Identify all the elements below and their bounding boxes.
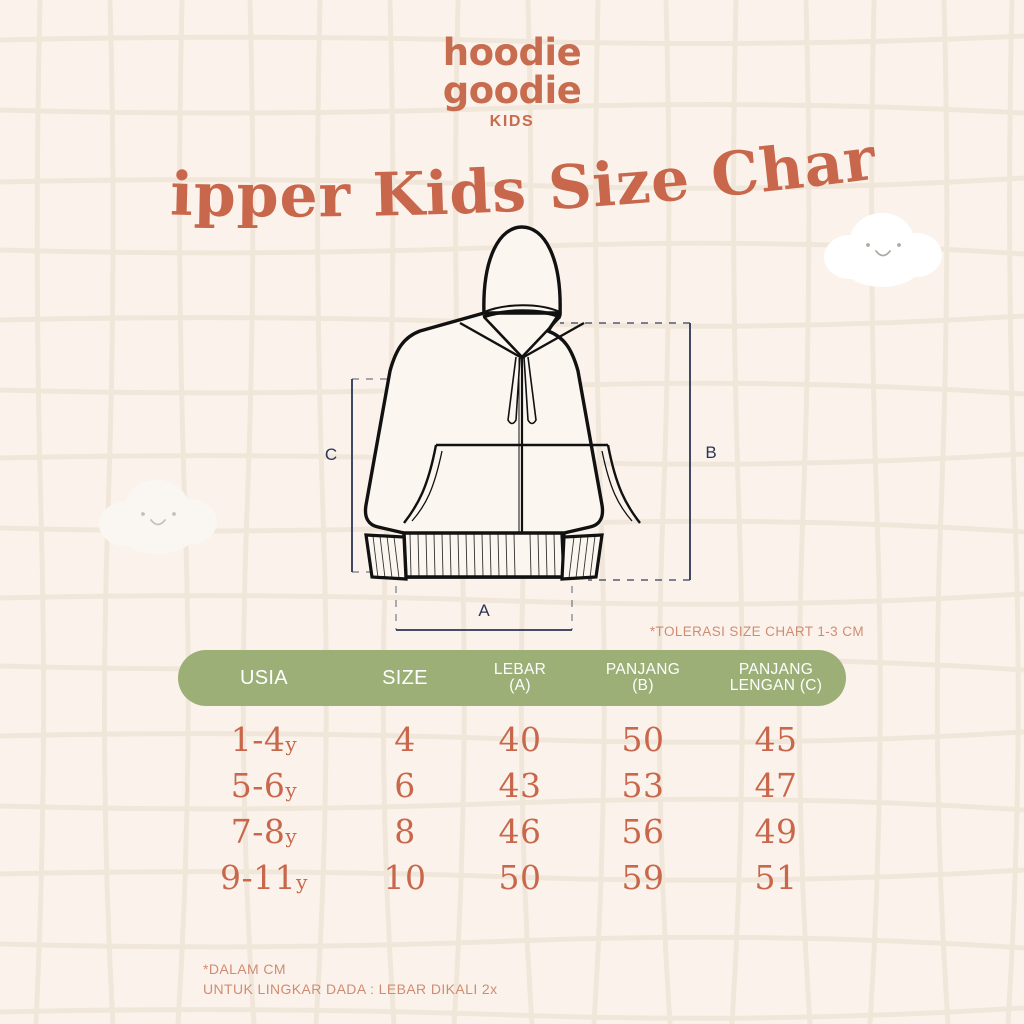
- cell-panjang: 50: [580, 720, 706, 759]
- cell-lebar: 43: [460, 766, 580, 805]
- cell-usia: 7-8y: [178, 812, 350, 851]
- cell-size: 10: [350, 858, 460, 897]
- footnote: *DALAM CM UNTUK LINGKAR DADA : LEBAR DIK…: [203, 960, 497, 1000]
- size-chart-table: USIA SIZE LEBAR (A) PANJANG (B) PANJANG …: [178, 650, 846, 904]
- hoodie-outline: [366, 227, 603, 577]
- cell-panjang-lengan: 51: [706, 858, 846, 897]
- cell-panjang: 59: [580, 858, 706, 897]
- cell-size: 6: [350, 766, 460, 805]
- column-header-panjang-lengan: PANJANG LENGAN (C): [706, 662, 846, 694]
- brand-line-goodie: goodie: [0, 72, 1024, 110]
- hem-ribbing: [404, 533, 564, 577]
- cell-lebar: 50: [460, 858, 580, 897]
- column-header-usia: USIA: [178, 668, 350, 689]
- page-title-text: Zipper Kids Size Chart: [0, 118, 881, 228]
- cell-usia: 5-6y: [178, 766, 350, 805]
- column-header-size: SIZE: [350, 668, 460, 689]
- cell-panjang: 56: [580, 812, 706, 851]
- zip-hoodie-illustration: C B A: [300, 205, 740, 635]
- cuff-ribbing-right: [562, 535, 602, 579]
- table-header-row: USIA SIZE LEBAR (A) PANJANG (B) PANJANG …: [178, 650, 846, 706]
- dimension-label-b: B: [705, 443, 716, 462]
- cell-panjang-lengan: 49: [706, 812, 846, 851]
- footnote-line-1: *DALAM CM: [203, 960, 497, 980]
- cell-panjang-lengan: 45: [706, 720, 846, 759]
- column-header-lebar: LEBAR (A): [460, 662, 580, 694]
- table-row: 5-6y6435347: [178, 766, 846, 812]
- brand-line-hoodie: hoodie: [0, 34, 1024, 72]
- cell-lebar: 40: [460, 720, 580, 759]
- brand-logo: hoodie goodie KIDS: [0, 34, 1024, 131]
- page-title: Zipper Kids Size Chart: [0, 118, 1024, 228]
- tolerance-note: *TOLERASI SIZE CHART 1-3 CM: [650, 624, 864, 639]
- cell-size: 8: [350, 812, 460, 851]
- cell-panjang: 53: [580, 766, 706, 805]
- cuff-ribbing-left: [366, 535, 406, 579]
- cell-panjang-lengan: 47: [706, 766, 846, 805]
- cell-size: 4: [350, 720, 460, 759]
- dimension-label-c: C: [325, 445, 337, 464]
- table-row: 1-4y4405045: [178, 720, 846, 766]
- cell-usia: 9-11y: [178, 858, 350, 897]
- table-row: 9-11y10505951: [178, 858, 846, 904]
- dimension-label-a: A: [478, 601, 490, 620]
- footnote-line-2: UNTUK LINGKAR DADA : LEBAR DIKALI 2x: [203, 980, 497, 1000]
- column-header-panjang: PANJANG (B): [580, 662, 706, 694]
- table-body: 1-4y44050455-6y64353477-8y84656499-11y10…: [178, 720, 846, 904]
- table-row: 7-8y8465649: [178, 812, 846, 858]
- cloud-left-icon: [95, 472, 225, 564]
- cell-lebar: 46: [460, 812, 580, 851]
- cell-usia: 1-4y: [178, 720, 350, 759]
